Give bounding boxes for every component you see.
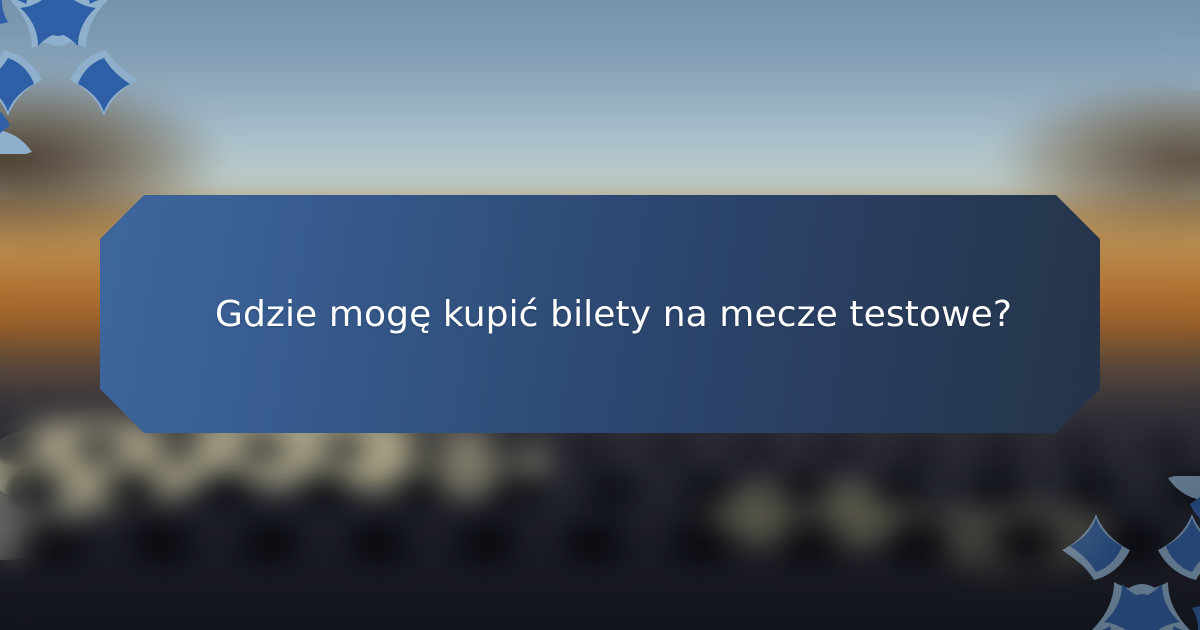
- headline-banner: Gdzie mogę kupić bilety na mecze testowe…: [100, 195, 1100, 433]
- banner-title: Gdzie mogę kupić bilety na mecze testowe…: [100, 292, 1052, 337]
- share-card: Gdzie mogę kupić bilety na mecze testowe…: [0, 0, 1200, 630]
